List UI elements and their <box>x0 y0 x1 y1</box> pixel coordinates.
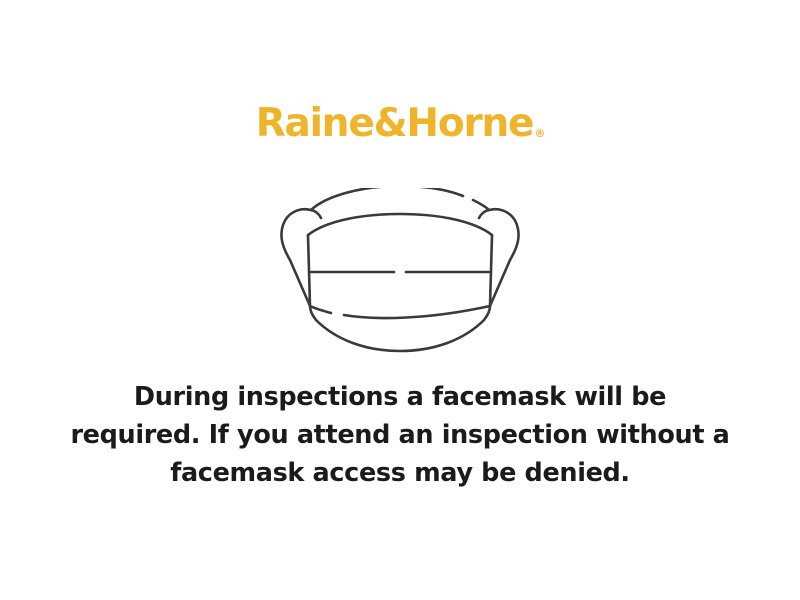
mask-bottom-edge <box>316 320 484 351</box>
message-line-1: During inspections a facemask will be <box>0 378 800 416</box>
mask-pleat-top <box>308 214 492 235</box>
message-line-3: facemask access may be denied. <box>0 454 800 492</box>
facemask-illustration <box>0 188 800 356</box>
mask-pleat-lower-left <box>310 306 331 313</box>
brand-wordmark: Raine&Horne <box>256 104 534 143</box>
mask-ear-loop-left <box>281 209 311 306</box>
mask-pleat-lower-right <box>344 306 490 318</box>
message-line-2: required. If you attend an inspection wi… <box>0 416 800 454</box>
mask-top-edge-left <box>311 188 463 210</box>
mask-ear-loop-left-inner <box>311 210 321 218</box>
mask-ear-loop-right <box>489 209 519 306</box>
surgical-facemask-icon <box>266 188 534 356</box>
mask-ear-loop-right-inner <box>479 210 489 218</box>
mask-top-edge-right <box>473 200 489 210</box>
message-text: During inspections a facemask will be re… <box>0 378 800 492</box>
registered-trademark-icon: ® <box>534 128 545 139</box>
brand-logo: Raine&Horne® <box>0 104 800 143</box>
facemask-notice-poster: Raine&Horne® <box>0 0 800 600</box>
